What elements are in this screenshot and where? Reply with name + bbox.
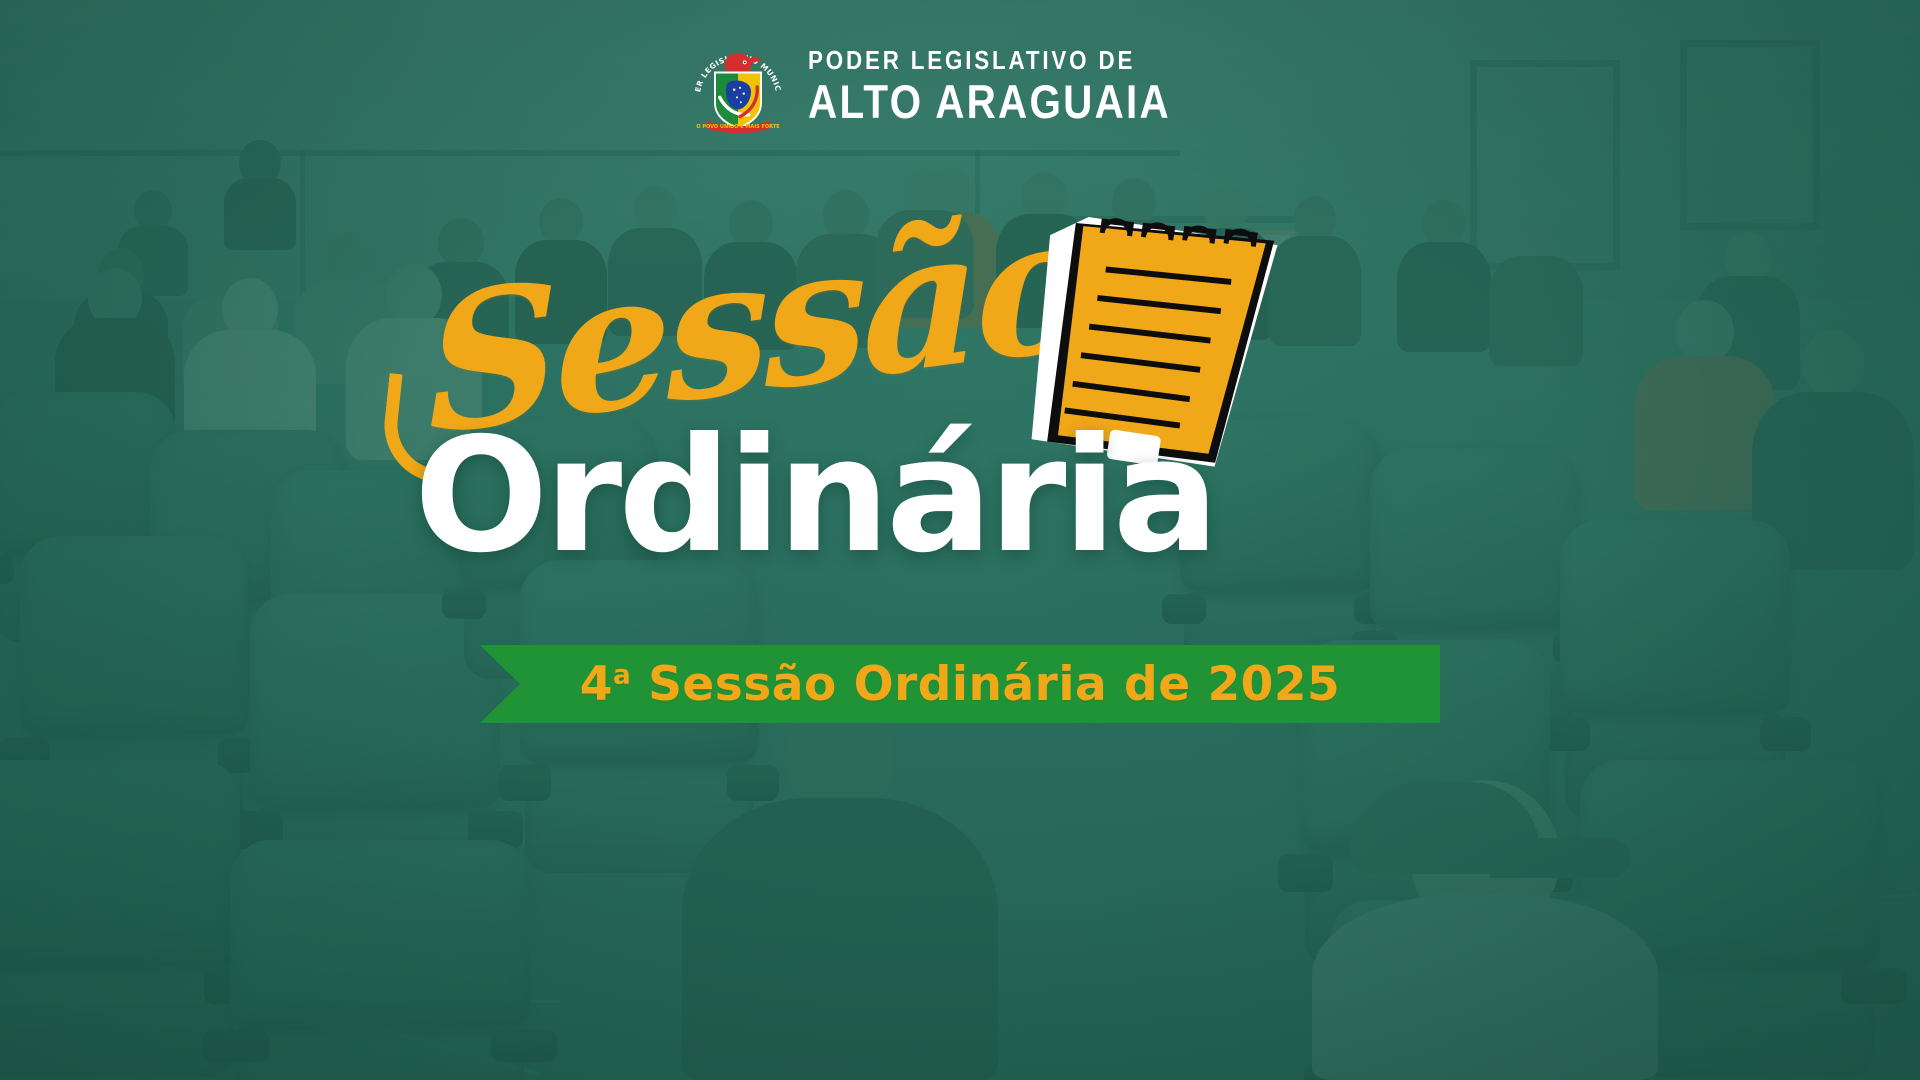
brand-line-1: PODER LEGISLATIVO DE	[808, 47, 1171, 73]
script-title-wrap: Sessão	[430, 258, 1490, 488]
brand-line-2: ALTO ARAGUAIA	[808, 78, 1171, 125]
ribbon-session-text: Sessão Ordinária de	[648, 657, 1191, 712]
ribbon-year: 2025	[1207, 657, 1340, 712]
session-ribbon: 4a Sessão Ordinária de 2025	[480, 645, 1440, 723]
ribbon-label: 4a Sessão Ordinária de 2025	[580, 657, 1341, 712]
ribbon-ordinal-number: 4	[580, 657, 613, 712]
ribbon-ordinal-suffix: a	[613, 660, 631, 690]
title-lockup: Sessão	[430, 258, 1490, 488]
coat-of-arms-icon: PODER LEGISLATIVO MUNICIPAL	[690, 36, 786, 136]
heavy-title: Ordinária	[414, 404, 1215, 588]
poster-canvas: PODER LEGISLATIVO MUNICIPAL	[0, 0, 1920, 1080]
brand-text-block: PODER LEGISLATIVO DE ALTO ARAGUAIA	[808, 47, 1230, 125]
brand-header: PODER LEGISLATIVO MUNICIPAL	[690, 36, 1230, 136]
